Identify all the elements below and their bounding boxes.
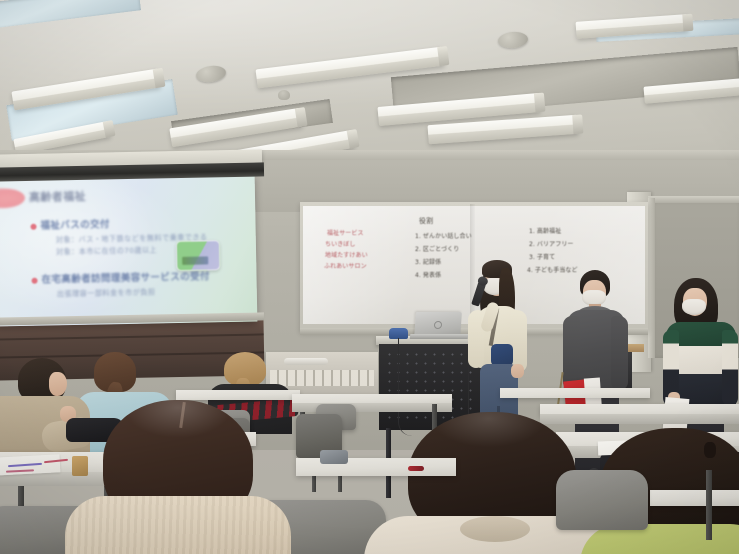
student-a-left-arm — [563, 316, 580, 390]
whiteboard-red-line-4: ふれあいサロン — [324, 261, 367, 270]
whiteboard-red-line-3: 地域たすけあい — [325, 250, 368, 259]
slide-bullet-2-sub-1: 出張理容一部料金を市が負担 — [57, 287, 156, 299]
desk-leg — [706, 470, 712, 540]
pencil-case — [320, 450, 348, 464]
foreground-student-beige — [85, 400, 295, 554]
whiteboard-red-line-1: 福祉サービス — [327, 228, 364, 237]
face-mask-icon — [682, 299, 706, 315]
hair-part — [179, 402, 186, 428]
desk — [650, 490, 739, 506]
sweater-collar — [460, 516, 530, 542]
whiteboard-right-line-2: 2. バリアフリー — [529, 239, 574, 248]
slide-bullet-marker-icon — [30, 224, 36, 230]
student-b-right-arm — [722, 330, 738, 406]
whiteboard-right-line-1: 1. 高齢福祉 — [529, 226, 561, 235]
whiteboard-mid-line-4: 4. 発表係 — [415, 270, 441, 279]
laptop-keyboard[interactable] — [410, 334, 469, 339]
shoulder-bag — [491, 344, 513, 366]
classroom-photo: 高齢者福祉 福祉バスの交付 対象：バス・地下鉄などを無料で乗車できる 対象：本市… — [0, 0, 739, 554]
whiteboard-mid-line-1: 1. ぜんかい話し合い — [415, 231, 472, 240]
student-a-right-arm — [611, 316, 628, 390]
ic-card-icon — [176, 240, 221, 271]
slide-bullet-1: 福祉バスの交付 — [40, 216, 110, 231]
presenter-hand — [511, 364, 524, 378]
marker-pen-icon — [408, 466, 424, 471]
desk — [500, 388, 650, 398]
alcove-jamb — [648, 198, 655, 358]
whiteboard-red-line-2: ちいきぼし — [325, 239, 356, 248]
foreground-student-sweater — [65, 496, 291, 554]
slide-bullet-1-sub-2: 対象：本市に在住の70歳以上 — [56, 245, 157, 257]
projection-screen: 高齢者福祉 福祉バスの交付 対象：バス・地下鉄などを無料で乗車できる 対象：本市… — [0, 173, 257, 326]
slide-bullet-marker-icon — [32, 278, 38, 284]
slide-title: 高齢者福祉 — [29, 188, 86, 205]
whiteboard-mid-line-2: 2. 区ごとづくり — [415, 244, 459, 253]
presenter-left-sleeve — [468, 310, 484, 368]
hair-tie-icon — [704, 442, 716, 458]
chair[interactable] — [556, 470, 648, 530]
whiteboard-mid-heading: 役割 — [419, 216, 433, 226]
whiteboard-mid-line-3: 3. 記録係 — [415, 257, 441, 266]
wall-soffit — [255, 150, 739, 160]
alcove-lip — [648, 196, 739, 203]
desk — [176, 390, 300, 400]
ceiling-sensor-icon — [278, 90, 290, 100]
laptop-logo-icon — [434, 321, 443, 329]
sweater-ribbing — [65, 496, 291, 554]
